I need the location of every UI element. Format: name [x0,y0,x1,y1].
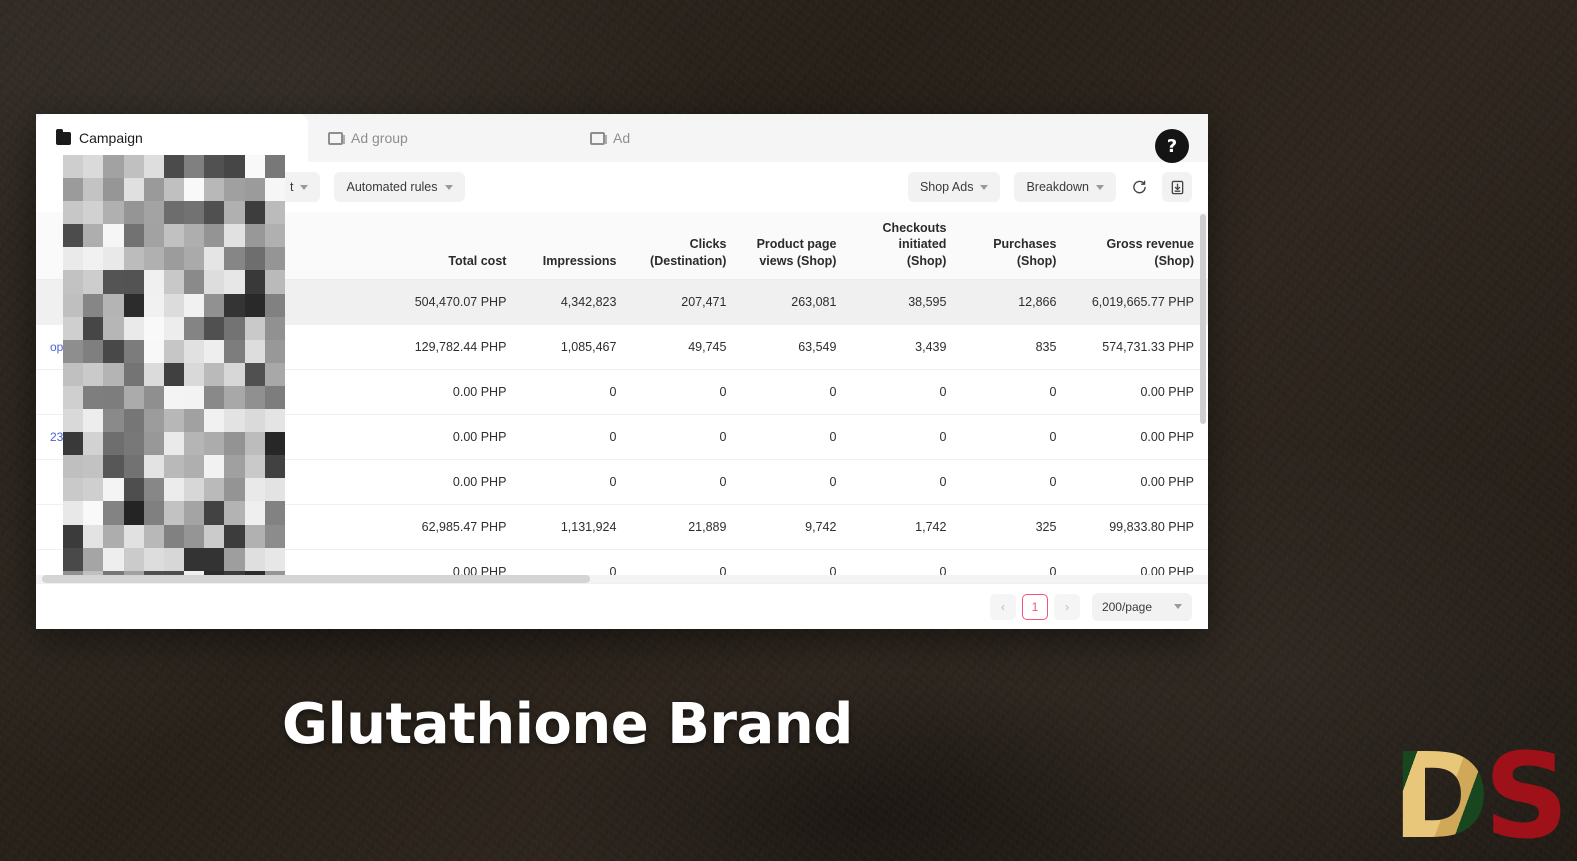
pagination-bar: ‹ 1 › 200/page [36,583,1208,629]
ds-brand-logo: DS [1392,737,1563,855]
mosaic-tile [144,409,164,432]
mosaic-tile [124,432,144,455]
mosaic-tile [265,455,285,478]
mosaic-tile [63,155,83,178]
mosaic-tile [224,501,244,524]
pagination-next-button[interactable]: › [1054,594,1080,620]
mosaic-tile [144,432,164,455]
table-cell-clicks: 0 [630,369,740,414]
table-cell-gross-revenue: 0.00 PHP [1070,414,1208,459]
table-cell-impressions: 1,085,467 [520,324,630,369]
mosaic-tile [224,409,244,432]
mosaic-tile [164,270,184,293]
chevron-down-icon [1174,604,1182,609]
mosaic-tile [63,386,83,409]
table-cell-purchases: 325 [960,504,1070,549]
column-header-revenue-line2: (Shop) [1154,254,1194,268]
chevron-down-icon [445,185,453,190]
column-header-impressions[interactable]: Impressions [520,212,630,279]
column-header-ppv-line1: Product page [757,237,837,251]
table-cell-checkouts-initiated: 1,742 [850,504,960,549]
table-cell-product-page-views: 263,081 [740,279,850,324]
tab-ad-group[interactable]: Ad group [308,114,570,162]
mosaic-tile [83,501,103,524]
mosaic-tile [224,478,244,501]
column-header-ppv-line2: views (Shop) [759,254,836,268]
mosaic-tile [164,548,184,571]
filter-dropdown-label: t [290,180,293,194]
table-cell-impressions: 0 [520,414,630,459]
mosaic-tile [103,548,123,571]
table-cell-impressions: 4,342,823 [520,279,630,324]
mosaic-tile [63,340,83,363]
table-cell-clicks: 21,889 [630,504,740,549]
mosaic-tile [204,409,224,432]
mosaic-tile [83,317,103,340]
mosaic-tile [245,317,265,340]
mosaic-tile [124,386,144,409]
horizontal-scrollbar-thumb[interactable] [42,575,590,583]
logo-letter-d: D [1392,727,1484,861]
mosaic-tile [204,548,224,571]
mosaic-tile [144,155,164,178]
automated-rules-label: Automated rules [346,180,437,194]
mosaic-tile [224,340,244,363]
column-header-total-cost[interactable]: Total cost [396,212,521,279]
mosaic-tile [224,317,244,340]
mosaic-tile [265,478,285,501]
mosaic-tile [265,432,285,455]
mosaic-tile [124,317,144,340]
mosaic-tile [63,525,83,548]
chevron-down-icon [300,185,308,190]
mosaic-tile [265,317,285,340]
pagination-page-1-label: 1 [1032,600,1039,614]
export-button[interactable] [1162,172,1192,202]
mosaic-tile [204,525,224,548]
mosaic-tile [224,270,244,293]
mosaic-tile [164,409,184,432]
tab-ad[interactable]: Ad [570,114,650,162]
mosaic-tile [265,201,285,224]
mosaic-tile [184,178,204,201]
mosaic-tile [83,270,103,293]
mosaic-tile [164,386,184,409]
mosaic-tile [184,340,204,363]
table-cell-product-page-views: 0 [740,414,850,459]
mosaic-tile [103,525,123,548]
mosaic-tile [124,340,144,363]
mosaic-tile [63,178,83,201]
mosaic-tile [245,432,265,455]
mosaic-tile [124,548,144,571]
mosaic-tile [184,317,204,340]
chevron-down-icon [980,185,988,190]
mosaic-tile [83,247,103,270]
mosaic-tile [164,178,184,201]
table-cell-impressions: 1,131,924 [520,504,630,549]
mosaic-tile [265,363,285,386]
mosaic-tile [144,247,164,270]
table-cell-product-page-views: 63,549 [740,324,850,369]
mosaic-tile [124,478,144,501]
mosaic-tile [124,201,144,224]
mosaic-tile [144,363,164,386]
mosaic-tile [103,317,123,340]
mosaic-tile [224,363,244,386]
mosaic-tile [245,386,265,409]
mosaic-tile [204,478,224,501]
redaction-mosaic-overlay [63,155,285,629]
mosaic-tile [184,386,204,409]
mosaic-tile [103,455,123,478]
column-header-purchases[interactable]: Purchases (Shop) [960,212,1070,279]
mosaic-tile [245,409,265,432]
mosaic-tile [265,247,285,270]
column-header-revenue-line1: Gross revenue [1106,237,1194,251]
column-header-clicks-line2: (Destination) [650,254,726,268]
mosaic-tile [164,340,184,363]
column-header-clicks[interactable]: Clicks (Destination) [630,212,740,279]
table-cell-purchases: 12,866 [960,279,1070,324]
mosaic-tile [164,224,184,247]
mosaic-tile [184,270,204,293]
mosaic-tile [204,178,224,201]
mosaic-tile [224,155,244,178]
mosaic-tile [184,525,204,548]
page-size-label: 200/page [1102,600,1152,614]
ads-manager-window: D S Campaign Ad group Ad ? t Automated r… [36,114,1208,629]
mosaic-tile [224,386,244,409]
mosaic-tile [63,294,83,317]
shop-ads-label: Shop Ads [920,180,974,194]
mosaic-tile [245,501,265,524]
mosaic-tile [124,455,144,478]
table-cell-total-cost: 0.00 PHP [396,414,521,459]
mosaic-tile [224,178,244,201]
mosaic-tile [204,432,224,455]
mosaic-tile [103,386,123,409]
export-icon [1170,180,1185,195]
mosaic-tile [63,317,83,340]
column-header-checkouts-line1: Checkouts [883,221,947,235]
mosaic-tile [265,386,285,409]
mosaic-tile [83,340,103,363]
mosaic-tile [63,224,83,247]
table-cell-clicks: 207,471 [630,279,740,324]
table-cell-checkouts-initiated: 0 [850,459,960,504]
table-cell-total-cost: 0.00 PHP [396,459,521,504]
mosaic-tile [245,224,265,247]
table-cell-gross-revenue: 0.00 PHP [1070,459,1208,504]
mosaic-tile [204,270,224,293]
mosaic-tile [103,409,123,432]
column-header-checkouts-initiated[interactable]: Checkouts initiated (Shop) [850,212,960,279]
mosaic-tile [184,247,204,270]
mosaic-tile [63,478,83,501]
mosaic-tile [164,363,184,386]
mosaic-tile [204,501,224,524]
mosaic-tile [245,478,265,501]
table-cell-gross-revenue: 99,833.80 PHP [1070,504,1208,549]
mosaic-tile [164,317,184,340]
document-icon [328,132,343,145]
mosaic-tile [184,548,204,571]
mosaic-tile [83,409,103,432]
mosaic-tile [83,432,103,455]
mosaic-tile [124,363,144,386]
table-cell-checkouts-initiated: 3,439 [850,324,960,369]
mosaic-tile [265,294,285,317]
mosaic-tile [103,501,123,524]
mosaic-tile [224,432,244,455]
column-header-clicks-line1: Clicks [690,237,727,251]
mosaic-tile [124,270,144,293]
mosaic-tile [144,201,164,224]
table-cell-clicks: 0 [630,414,740,459]
mosaic-tile [103,478,123,501]
mosaic-tile [224,455,244,478]
tab-ad-label: Ad [613,130,630,146]
mosaic-tile [63,432,83,455]
mosaic-tile [83,525,103,548]
column-header-total-cost-label: Total cost [448,254,506,268]
mosaic-tile [265,548,285,571]
mosaic-tile [224,224,244,247]
mosaic-tile [103,201,123,224]
mosaic-tile [103,178,123,201]
mosaic-tile [63,409,83,432]
table-cell-purchases: 0 [960,459,1070,504]
mosaic-tile [224,247,244,270]
mosaic-tile [124,224,144,247]
mosaic-tile [265,525,285,548]
mosaic-tile [204,201,224,224]
mosaic-tile [103,155,123,178]
mosaic-tile [265,409,285,432]
mosaic-tile [63,247,83,270]
mosaic-tile [245,363,265,386]
column-header-purchases-line1: Purchases [993,237,1056,251]
mosaic-tile [164,455,184,478]
mosaic-tile [103,224,123,247]
question-mark-icon: ? [1167,136,1177,157]
mosaic-tile [63,548,83,571]
mosaic-tile [63,501,83,524]
table-cell-impressions: 0 [520,369,630,414]
mosaic-tile [265,155,285,178]
mosaic-tile [164,525,184,548]
folder-icon [56,132,71,145]
table-cell-total-cost: 504,470.07 PHP [396,279,521,324]
mosaic-tile [83,455,103,478]
mosaic-tile [124,525,144,548]
mosaic-tile [184,455,204,478]
automated-rules-dropdown[interactable]: Automated rules [334,172,464,202]
table-cell-total-cost: 129,782.44 PHP [396,324,521,369]
table-cell-checkouts-initiated: 0 [850,369,960,414]
mosaic-tile [265,178,285,201]
table-cell-checkouts-initiated: 38,595 [850,279,960,324]
refresh-button[interactable] [1124,172,1154,202]
mosaic-tile [124,155,144,178]
table-cell-purchases: 0 [960,369,1070,414]
mosaic-tile [184,409,204,432]
mosaic-tile [103,270,123,293]
column-header-impressions-label: Impressions [543,254,617,268]
table-cell-purchases: 835 [960,324,1070,369]
mosaic-tile [83,155,103,178]
mosaic-tile [144,224,164,247]
mosaic-tile [265,224,285,247]
mosaic-tile [83,294,103,317]
mosaic-tile [245,340,265,363]
mosaic-tile [245,247,265,270]
mosaic-tile [245,294,265,317]
mosaic-tile [164,155,184,178]
mosaic-tile [124,294,144,317]
mosaic-tile [184,432,204,455]
mosaic-tile [124,501,144,524]
page-size-dropdown[interactable]: 200/page [1092,593,1192,621]
mosaic-tile [144,548,164,571]
mosaic-tile [63,455,83,478]
table-cell-product-page-views: 0 [740,369,850,414]
mosaic-tile [144,294,164,317]
mosaic-tile [245,270,265,293]
tab-campaign-label: Campaign [79,130,143,146]
mosaic-tile [204,317,224,340]
mosaic-tile [265,270,285,293]
table-cell-purchases: 0 [960,414,1070,459]
table-cell-total-cost: 0.00 PHP [396,369,521,414]
table-cell-clicks: 49,745 [630,324,740,369]
mosaic-tile [164,294,184,317]
column-header-product-page-views[interactable]: Product page views (Shop) [740,212,850,279]
video-caption: Glutathione Brand [282,692,853,757]
mosaic-tile [184,478,204,501]
vertical-scrollbar[interactable] [1200,214,1206,424]
mosaic-tile [83,224,103,247]
mosaic-tile [204,340,224,363]
breakdown-dropdown[interactable]: Breakdown [1014,172,1116,202]
mosaic-tile [245,455,265,478]
mosaic-tile [204,224,224,247]
mosaic-tile [204,363,224,386]
document-icon [590,132,605,145]
mosaic-tile [245,525,265,548]
mosaic-tile [103,340,123,363]
table-cell-gross-revenue: 0.00 PHP [1070,369,1208,414]
mosaic-tile [245,201,265,224]
mosaic-tile [164,501,184,524]
mosaic-tile [224,525,244,548]
mosaic-tile [245,548,265,571]
chevron-right-icon: › [1065,600,1069,614]
mosaic-tile [83,178,103,201]
mosaic-tile [144,455,164,478]
mosaic-tile [164,432,184,455]
table-cell-product-page-views: 0 [740,459,850,504]
mosaic-tile [124,409,144,432]
mosaic-tile [224,548,244,571]
pagination-prev-button[interactable]: ‹ [990,594,1016,620]
mosaic-tile [164,478,184,501]
chevron-down-icon [1096,185,1104,190]
mosaic-tile [144,525,164,548]
table-cell-checkouts-initiated: 0 [850,414,960,459]
mosaic-tile [184,201,204,224]
mosaic-tile [63,363,83,386]
mosaic-tile [144,501,164,524]
refresh-icon [1132,180,1147,195]
column-header-gross-revenue[interactable]: Gross revenue (Shop) [1070,212,1208,279]
mosaic-tile [144,270,164,293]
mosaic-tile [265,340,285,363]
column-header-purchases-line2: (Shop) [1017,254,1057,268]
mosaic-tile [204,247,224,270]
help-button[interactable]: ? [1155,129,1189,163]
mosaic-tile [204,386,224,409]
column-header-checkouts-line2: initiated (Shop) [899,237,947,267]
mosaic-tile [245,155,265,178]
logo-letter-s: S [1484,727,1563,861]
mosaic-tile [224,201,244,224]
mosaic-tile [204,294,224,317]
mosaic-tile [184,155,204,178]
mosaic-tile [83,363,103,386]
table-cell-gross-revenue: 574,731.33 PHP [1070,324,1208,369]
mosaic-tile [164,201,184,224]
mosaic-tile [184,501,204,524]
mosaic-tile [83,386,103,409]
mosaic-tile [184,224,204,247]
table-cell-gross-revenue: 6,019,665.77 PHP [1070,279,1208,324]
mosaic-tile [144,478,164,501]
mosaic-tile [103,247,123,270]
mosaic-tile [204,155,224,178]
mosaic-tile [144,178,164,201]
mosaic-tile [184,363,204,386]
mosaic-tile [184,294,204,317]
table-cell-clicks: 0 [630,459,740,504]
chevron-left-icon: ‹ [1001,600,1005,614]
mosaic-tile [103,294,123,317]
table-cell-impressions: 0 [520,459,630,504]
mosaic-tile [245,178,265,201]
mosaic-tile [164,247,184,270]
mosaic-tile [63,201,83,224]
mosaic-tile [103,432,123,455]
mosaic-tile [144,340,164,363]
mosaic-tile [224,294,244,317]
mosaic-tile [124,178,144,201]
shop-ads-dropdown[interactable]: Shop Ads [908,172,1001,202]
mosaic-tile [83,201,103,224]
mosaic-tile [83,548,103,571]
mosaic-tile [204,455,224,478]
mosaic-tile [83,478,103,501]
table-cell-product-page-views: 9,742 [740,504,850,549]
mosaic-tile [265,501,285,524]
mosaic-tile [144,317,164,340]
mosaic-tile [144,386,164,409]
mosaic-tile [63,270,83,293]
pagination-page-1[interactable]: 1 [1022,594,1048,620]
table-cell-total-cost: 62,985.47 PHP [396,504,521,549]
mosaic-tile [103,363,123,386]
tab-ad-group-label: Ad group [351,130,408,146]
